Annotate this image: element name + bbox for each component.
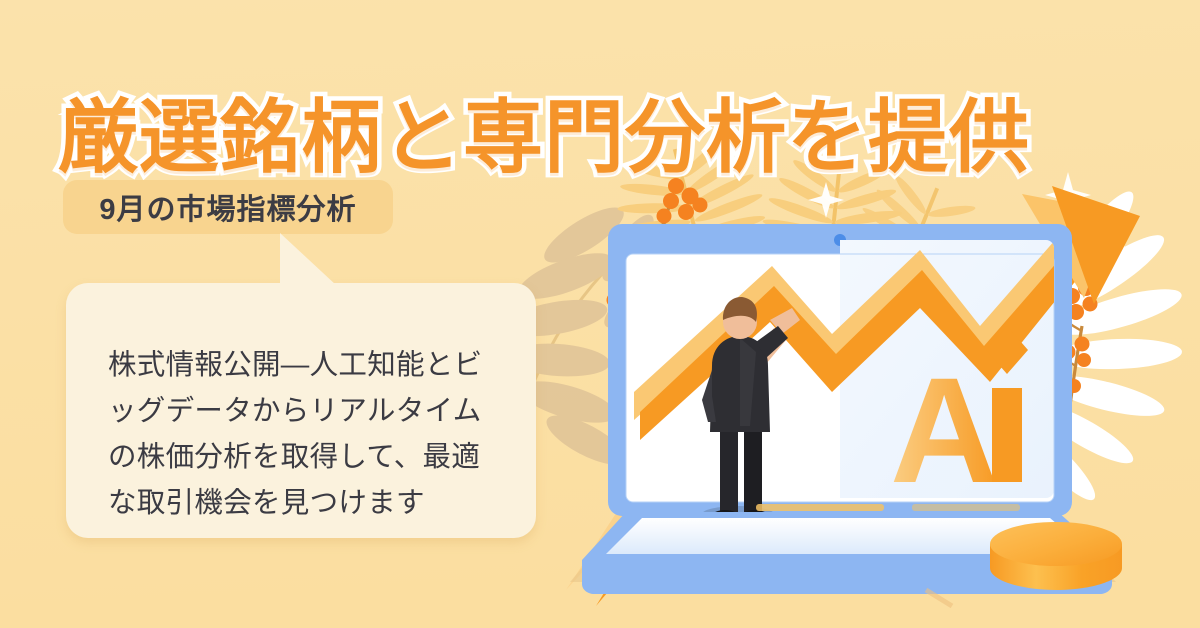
- figure-leg-right: [744, 420, 762, 516]
- illustration-svg: A: [560, 120, 1200, 628]
- ai-logo-letter-i-stem: [992, 388, 1022, 482]
- figure-leg-left: [720, 420, 738, 516]
- laptop-illustration: A: [560, 120, 1200, 628]
- badge-label: 9月の市場指標分析: [99, 186, 356, 228]
- speech-bubble-tail: [280, 233, 336, 285]
- promo-banner: 厳選銘柄と専門分析を提供 9月の市場指標分析 株式情報公開—人工知能とビッグデー…: [0, 0, 1200, 628]
- status-badge: 9月の市場指標分析: [63, 180, 393, 234]
- description-text: 株式情報公開—人工知能とビッグデータからリアルタイムの株価分析を取得して、最適な…: [108, 342, 500, 527]
- ai-logo-letter-a: A: [890, 346, 998, 514]
- coin-icon: [990, 522, 1122, 590]
- coin-top: [990, 522, 1122, 566]
- description-card: 株式情報公開—人工知能とビッグデータからリアルタイムの株価分析を取得して、最適な…: [66, 283, 536, 538]
